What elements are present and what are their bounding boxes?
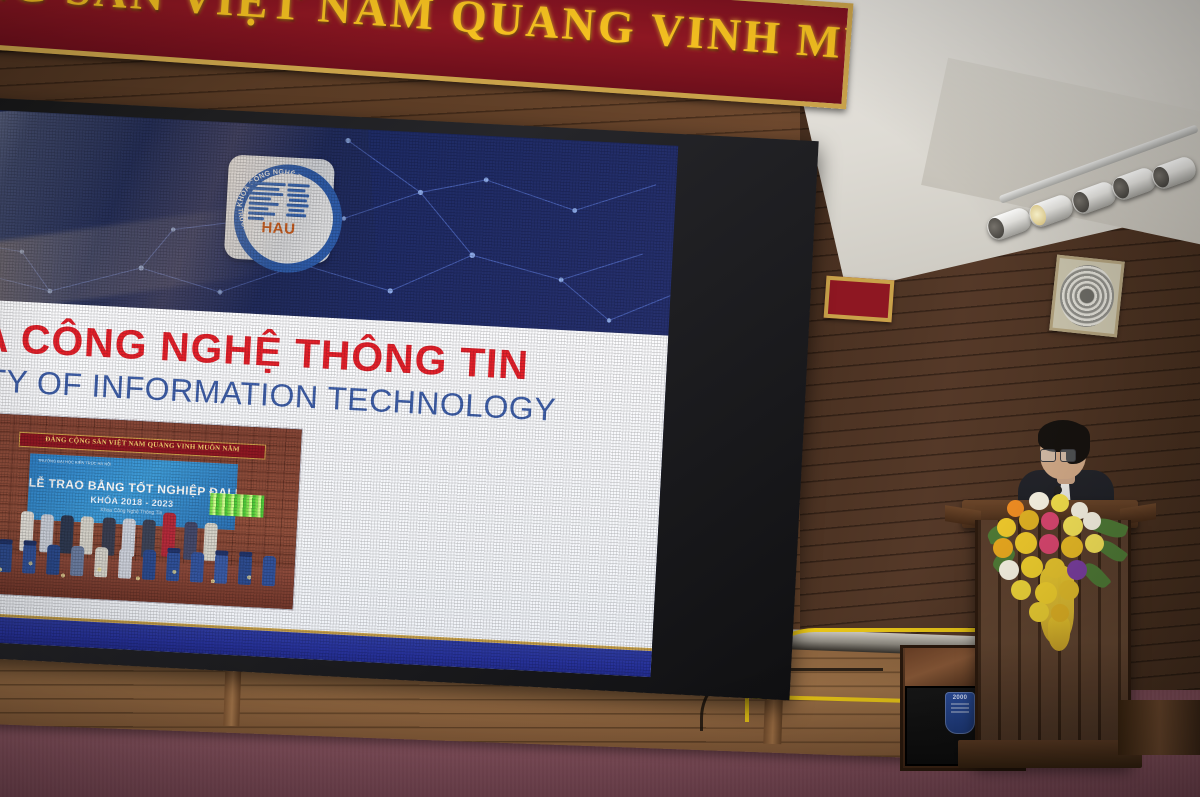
banner-text: ỒNG SẢN VIỆT NAM QUANG VINH MUÔN NĂM bbox=[0, 0, 853, 71]
wall-exhaust-fan bbox=[1049, 255, 1125, 338]
flower-arrangement bbox=[985, 482, 1135, 632]
glasses-icon bbox=[1040, 449, 1074, 460]
photo-screen-org: TRƯỜNG ĐẠI HỌC KIẾN TRÚC HÀ NỘI bbox=[38, 458, 112, 467]
faculty-logo: KHOA CÔNG NGHỆ THÔNG TIN TRƯỜNG ĐẠI HỌC … bbox=[224, 154, 335, 263]
speaker-badge-watts: 2000 bbox=[945, 695, 975, 701]
small-red-plaque bbox=[824, 276, 895, 323]
led-display-screen: KHOA CÔNG NGHỆ THÔNG TIN TRƯỜNG ĐẠI HỌC … bbox=[0, 92, 819, 700]
slide-body: KHOA CÔNG NGHỆ THÔNG TIN FACULTY OF INFO… bbox=[0, 294, 668, 677]
speaker-badge: 2000 bbox=[945, 692, 975, 734]
slide-surface: KHOA CÔNG NGHỆ THÔNG TIN TRƯỜNG ĐẠI HỌC … bbox=[0, 104, 678, 677]
photo-green-overlay bbox=[209, 493, 264, 518]
slide-embedded-photo: ĐẢNG CỘNG SẢN VIỆT NAM QUANG VINH MUÔN N… bbox=[0, 412, 303, 611]
wall-column-base bbox=[1118, 700, 1200, 755]
presentation-hall-photo: ỒNG SẢN VIỆT NAM QUANG VINH MUÔN NĂM 200… bbox=[0, 0, 1200, 797]
podium-base bbox=[958, 740, 1142, 768]
